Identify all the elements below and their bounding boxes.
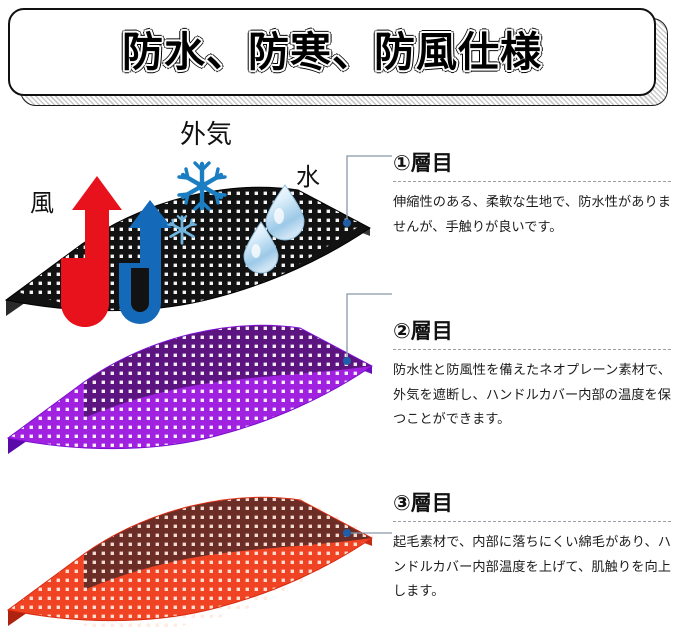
- layer-2-description: ②層目 防水性と防風性を備えたネオプレーン素材で、外気を遮断し、ハンドルカバー内…: [393, 320, 671, 432]
- layer-2-shape: [0, 308, 400, 478]
- layer-3-shape: [0, 480, 400, 632]
- label-outside-air: 外気: [180, 122, 232, 148]
- layer-3-divider: [393, 521, 671, 522]
- layer-3-description: ③層目 起毛素材で、内部に落ちにくい綿毛があり、ハンドルカバー内部温度を上げて、…: [393, 492, 671, 604]
- layer-1-text: 伸縮性のある、柔軟な生地で、防水性がありませんが、手触りが良いです。: [393, 191, 671, 240]
- layer-2-divider: [393, 349, 671, 350]
- page-title: 防水、防寒、防風仕様: [122, 32, 542, 73]
- layer-1-heading: ①層目: [393, 152, 671, 175]
- layer-2-text: 防水性と防風性を備えたネオプレーン素材で、外気を遮断し、ハンドルカバー内部の温度…: [393, 359, 671, 432]
- layer-3-text: 起毛素材で、内部に落ちにくい綿毛があり、ハンドルカバー内部温度を上げて、肌触りを…: [393, 531, 671, 604]
- layer-2-heading: ②層目: [393, 320, 671, 343]
- layer-3-heading: ③層目: [393, 492, 671, 515]
- layer-1-description: ①層目 伸縮性のある、柔軟な生地で、防水性がありませんが、手触りが良いです。: [393, 152, 671, 240]
- title-banner: 防水、防寒、防風仕様: [8, 8, 668, 104]
- title-banner-box: 防水、防寒、防風仕様: [8, 8, 656, 96]
- label-water: 水: [296, 165, 320, 189]
- layer-1-divider: [393, 181, 671, 182]
- label-wind: 風: [30, 191, 54, 215]
